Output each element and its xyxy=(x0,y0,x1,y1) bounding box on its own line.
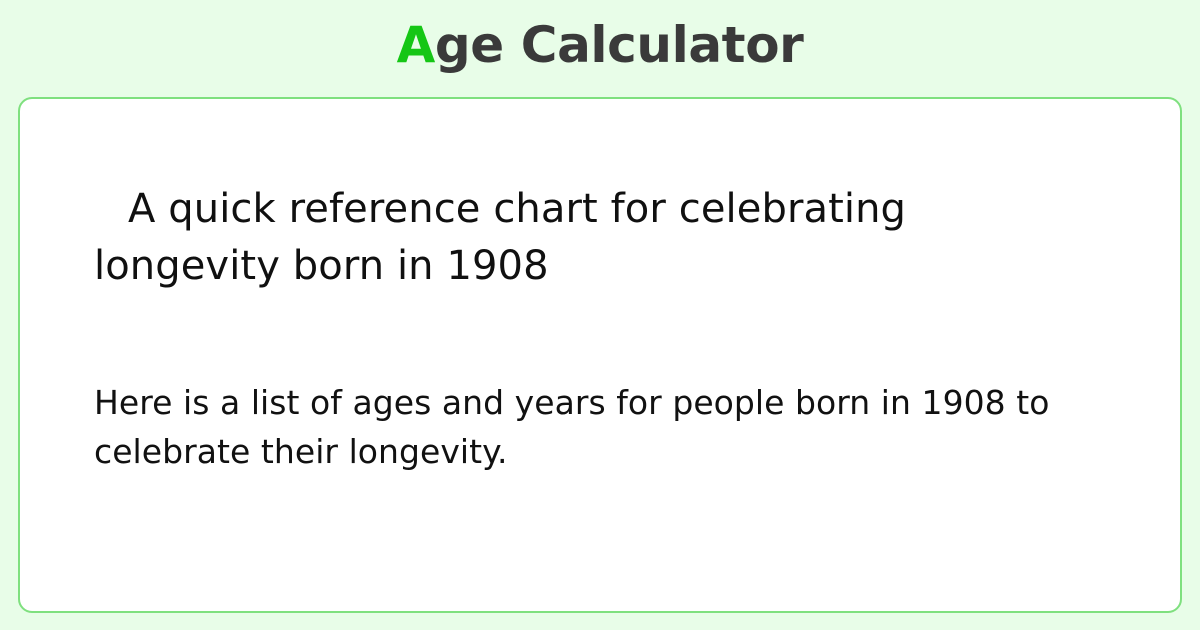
card-body-paragraph: Here is a list of ages and years for peo… xyxy=(94,378,1106,476)
content-card-inner: A quick reference chart for celebrating … xyxy=(20,99,1180,476)
content-card: A quick reference chart for celebrating … xyxy=(18,97,1182,613)
page-title-accent-letter: A xyxy=(397,16,435,74)
card-lede-heading: A quick reference chart for celebrating … xyxy=(94,181,1084,295)
page-title: Age Calculator xyxy=(0,0,1200,73)
page-title-rest: ge Calculator xyxy=(435,16,804,74)
page-root: Age Calculator A quick reference chart f… xyxy=(0,0,1200,630)
